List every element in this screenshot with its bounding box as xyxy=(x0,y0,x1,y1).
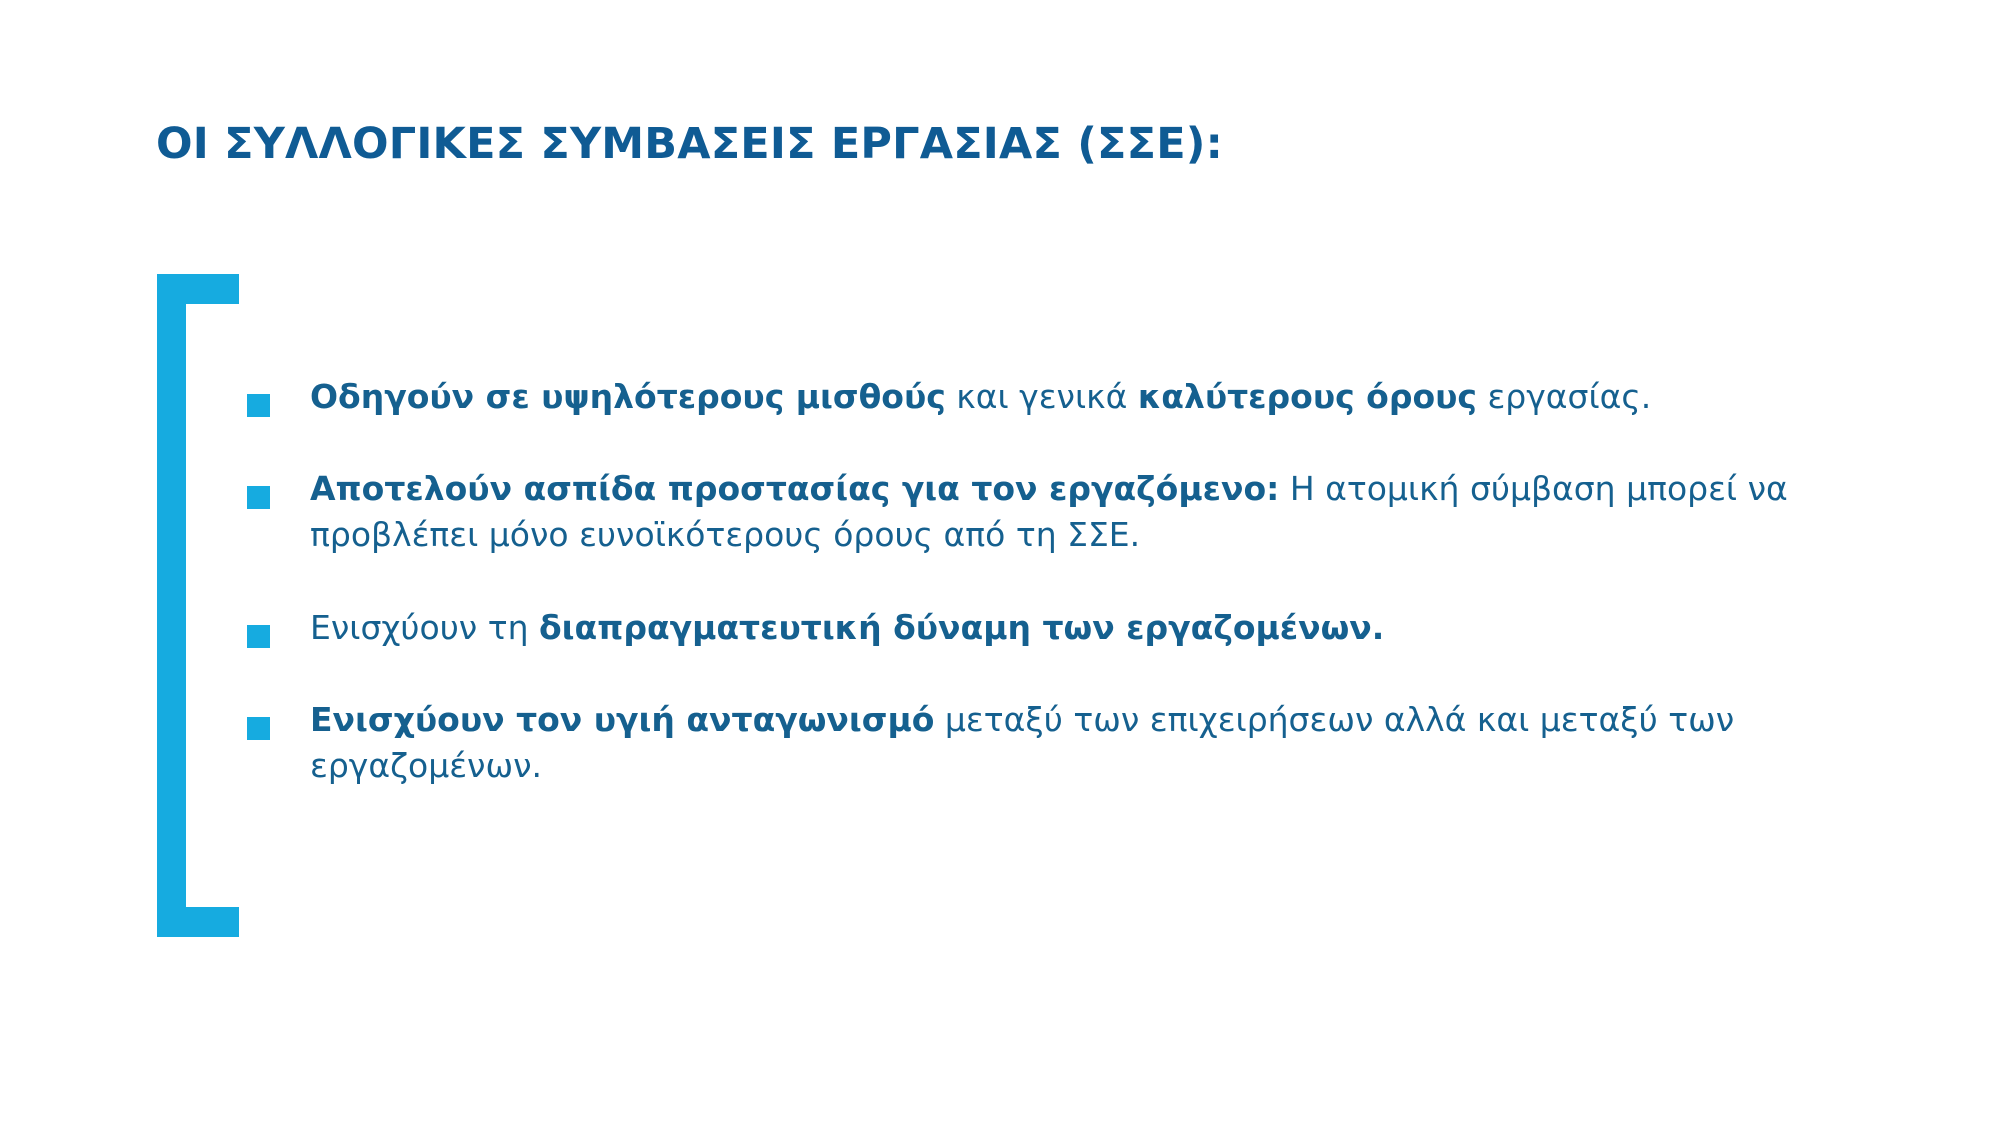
bracket-arm-bottom xyxy=(157,907,239,937)
slide-canvas: ΟΙ ΣΥΛΛΟΓΙΚΕΣ ΣΥΜΒΑΣΕΙΣ ΕΡΓΑΣΙΑΣ (ΣΣΕ): … xyxy=(0,0,2000,1125)
list-item: Αποτελούν ασπίδα προστασίας για τον εργα… xyxy=(247,466,1832,558)
bracket-stem xyxy=(157,274,186,937)
page-title: ΟΙ ΣΥΛΛΟΓΙΚΕΣ ΣΥΜΒΑΣΕΙΣ ΕΡΓΑΣΙΑΣ (ΣΣΕ): xyxy=(156,119,1856,171)
list-item: Ενισχύουν τη διαπραγματευτική δύναμη των… xyxy=(247,605,1832,651)
list-item-text: Ενισχύουν τον υγιή ανταγωνισμό μεταξύ τω… xyxy=(310,697,1832,789)
bracket-arm-top xyxy=(157,274,239,304)
square-bullet-icon xyxy=(247,486,270,509)
square-bullet-icon xyxy=(247,717,270,740)
square-bullet-icon xyxy=(247,625,270,648)
decorative-bracket xyxy=(157,274,239,937)
list-item-text: Οδηγούν σε υψηλότερους μισθούς και γενικ… xyxy=(310,374,1832,420)
list-item: Ενισχύουν τον υγιή ανταγωνισμό μεταξύ τω… xyxy=(247,697,1832,789)
bullet-list: Οδηγούν σε υψηλότερους μισθούς και γενικ… xyxy=(247,374,1832,789)
list-item-text: Ενισχύουν τη διαπραγματευτική δύναμη των… xyxy=(310,605,1832,651)
square-bullet-icon xyxy=(247,394,270,417)
list-item: Οδηγούν σε υψηλότερους μισθούς και γενικ… xyxy=(247,374,1832,420)
list-item-text: Αποτελούν ασπίδα προστασίας για τον εργα… xyxy=(310,466,1832,558)
